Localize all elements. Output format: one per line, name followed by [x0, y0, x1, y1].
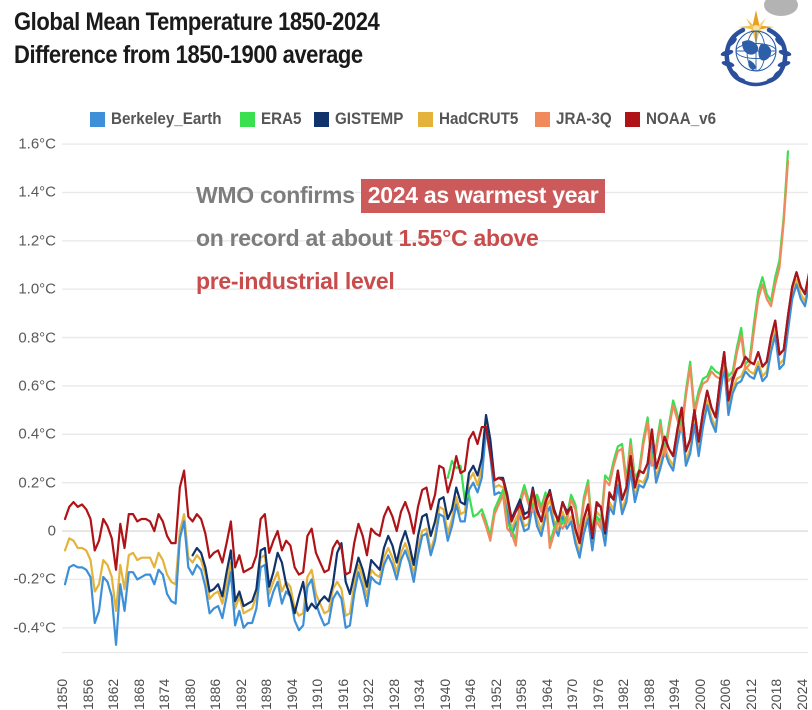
legend-label: ERA5 [261, 110, 301, 129]
legend-label: GISTEMP [335, 110, 403, 129]
legend-item-noaa_v6[interactable]: NOAA_v6 [625, 110, 722, 129]
y-axis-tick-label: -0.2°C [13, 571, 56, 588]
x-axis-tick-label: 1994 [666, 679, 682, 710]
x-axis-tick-label: 1964 [539, 679, 555, 710]
y-axis-tick-label: 1.6°C [18, 136, 56, 153]
x-axis-tick-label: 2024 [794, 679, 810, 710]
title-line-2: Difference from 1850-1900 average [14, 39, 630, 72]
legend-swatch-icon [535, 112, 550, 127]
x-axis-line [62, 652, 808, 653]
x-axis-tick-label: 1886 [207, 679, 223, 710]
legend-item-era5[interactable]: ERA5 [240, 110, 305, 129]
x-axis-tick-label: 2012 [743, 679, 759, 710]
legend-item-gistemp[interactable]: GISTEMP [314, 110, 409, 129]
x-axis-tick-label: 1910 [309, 679, 325, 710]
y-axis-tick-label: 0.4°C [18, 426, 56, 443]
legend-label: HadCRUT5 [439, 110, 518, 129]
x-axis-tick-label: 1856 [80, 679, 96, 710]
x-axis-tick-label: 1922 [360, 679, 376, 710]
legend-swatch-icon [240, 112, 255, 127]
annotation-text-part2: on record at about [196, 225, 393, 251]
annotation-highlight: 2024 as warmest year [361, 179, 606, 213]
y-axis-tick-label: 0.6°C [18, 377, 56, 394]
x-axis-tick-label: 1940 [437, 679, 453, 710]
x-axis-tick-label: 1898 [258, 679, 274, 710]
y-axis-tick-label: 1.2°C [18, 232, 56, 249]
x-axis-tick-label: 1892 [233, 679, 249, 710]
x-axis-tick-label: 1952 [488, 679, 504, 710]
title-line-1: Global Mean Temperature 1850-2024 [14, 6, 630, 39]
legend-item-berkeley_earth[interactable]: Berkeley_Earth [90, 110, 231, 129]
x-axis-tick-label: 1868 [131, 679, 147, 710]
x-axis-tick-label: 1976 [590, 679, 606, 710]
x-axis-tick-label: 1934 [411, 679, 427, 710]
x-axis-tick-label: 2000 [692, 679, 708, 710]
x-axis-tick-label: 1988 [641, 679, 657, 710]
x-axis-tick-label: 2018 [768, 679, 784, 710]
y-axis-tick-label: 0.8°C [18, 329, 56, 346]
x-axis-tick-label: 1946 [462, 679, 478, 710]
legend-swatch-icon [90, 112, 105, 127]
annotation-text-part1: WMO confirms [196, 182, 355, 208]
x-axis-tick-label: 1874 [156, 679, 172, 710]
annotation-emphasis: 1.55°C above [399, 225, 539, 251]
x-axis-tick-label: 1904 [284, 679, 300, 710]
page-title: Global Mean Temperature 1850-2024 Differ… [14, 6, 714, 72]
y-axis-tick-label: 0.2°C [18, 474, 56, 491]
x-axis-tick-label: 1928 [386, 679, 402, 710]
wmo-emblem-icon [716, 4, 796, 90]
x-axis-tick-label: 1850 [54, 679, 70, 710]
legend-item-hadcrut5[interactable]: HadCRUT5 [418, 110, 525, 129]
x-axis-labels: 1850185618621868187418801886189218981904… [62, 652, 808, 710]
legend-swatch-icon [418, 112, 433, 127]
x-axis-tick-label: 1958 [513, 679, 529, 710]
x-axis-tick-label: 1970 [564, 679, 580, 710]
legend-label: NOAA_v6 [646, 110, 716, 129]
y-axis-labels: 1.6°C1.4°C1.2°C1.0°C0.8°C0.6°C0.4°C0.2°C… [0, 132, 60, 652]
chart-legend: Berkeley_EarthERA5GISTEMPHadCRUT5JRA-3QN… [0, 106, 812, 132]
x-axis-tick-label: 1916 [335, 679, 351, 710]
legend-label: Berkeley_Earth [111, 110, 222, 129]
y-axis-tick-label: 0 [48, 523, 56, 540]
y-axis-tick-label: -0.4°C [13, 619, 56, 636]
annotation-callout: WMO confirms 2024 as warmest year on rec… [196, 174, 666, 303]
annotation-line-2: on record at about 1.55°C above [196, 217, 666, 260]
y-axis-tick-label: 1.4°C [18, 184, 56, 201]
x-axis-tick-label: 1982 [615, 679, 631, 710]
legend-label: JRA-3Q [556, 110, 612, 129]
x-axis-tick-label: 1880 [182, 679, 198, 710]
annotation-text-part3: pre-industrial level [196, 268, 395, 294]
x-axis-tick-label: 2006 [717, 679, 733, 710]
annotation-line-1: WMO confirms 2024 as warmest year [196, 174, 666, 217]
annotation-line-3: pre-industrial level [196, 260, 666, 303]
legend-item-jra-3q[interactable]: JRA-3Q [535, 110, 617, 129]
legend-swatch-icon [625, 112, 640, 127]
y-axis-tick-label: 1.0°C [18, 281, 56, 298]
x-axis-tick-label: 1862 [105, 679, 121, 710]
legend-swatch-icon [314, 112, 329, 127]
wmo-logo [716, 4, 796, 90]
